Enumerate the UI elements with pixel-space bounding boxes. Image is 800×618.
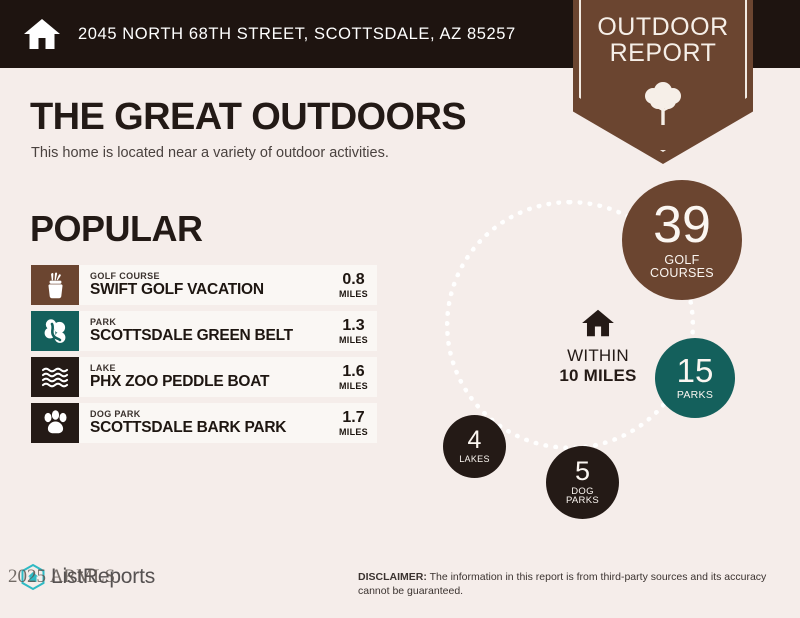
page-subtitle: This home is located near a variety of o… — [31, 145, 389, 161]
list-item-body: DOG PARK SCOTTSDALE BARK PARK 1.7 MILES — [79, 403, 377, 443]
list-item-name: SCOTTSDALE BARK PARK — [90, 420, 286, 436]
stat-label: GOLF COURSES — [650, 254, 714, 280]
tree-icon — [573, 78, 753, 131]
distance-value: 1.7 — [339, 410, 368, 426]
golf-bag-icon — [31, 265, 79, 305]
outdoor-report-page: 2045 NORTH 68TH STREET, SCOTTSDALE, AZ 8… — [0, 0, 800, 618]
list-item-labels: GOLF COURSE SWIFT GOLF VACATION — [90, 272, 264, 299]
popular-heading: POPULAR — [30, 208, 203, 250]
list-item-distance: 0.8 MILES — [333, 272, 368, 299]
list-item-category: LAKE — [90, 364, 269, 373]
outdoor-report-badge: OUTDOOR REPORT — [573, 0, 753, 164]
distance-unit: MILES — [339, 290, 368, 299]
disclaimer-label: DISCLAIMER: — [358, 571, 427, 583]
list-item-labels: DOG PARK SCOTTSDALE BARK PARK — [90, 410, 286, 437]
popular-list: GOLF COURSE SWIFT GOLF VACATION 0.8 MILE… — [31, 265, 377, 449]
list-item[interactable]: PARK SCOTTSDALE GREEN BELT 1.3 MILES — [31, 311, 377, 351]
list-item-labels: PARK SCOTTSDALE GREEN BELT — [90, 318, 293, 345]
home-icon — [518, 308, 678, 343]
diagram-center-line1: WITHIN — [518, 346, 678, 366]
stat-label: LAKES — [459, 455, 490, 464]
list-item-distance: 1.6 MILES — [333, 364, 368, 391]
list-item[interactable]: DOG PARK SCOTTSDALE BARK PARK 1.7 MILES — [31, 403, 377, 443]
list-item-category: DOG PARK — [90, 410, 286, 419]
stat-bubble-parks[interactable]: 15 PARKS — [655, 338, 735, 418]
list-item-distance: 1.3 MILES — [333, 318, 368, 345]
list-item-category: GOLF COURSE — [90, 272, 264, 281]
list-item[interactable]: LAKE PHX ZOO PEDDLE BOAT 1.6 MILES — [31, 357, 377, 397]
stat-bubble-lakes[interactable]: 4 LAKES — [443, 415, 506, 478]
list-item-category: PARK — [90, 318, 293, 327]
list-item-name: SCOTTSDALE GREEN BELT — [90, 328, 293, 344]
list-item-labels: LAKE PHX ZOO PEDDLE BOAT — [90, 364, 269, 391]
badge-title-line1: OUTDOOR — [597, 13, 728, 41]
paw-print-icon — [31, 403, 79, 443]
diagram-center-line2: 10 MILES — [518, 366, 678, 386]
park-tree-icon — [31, 311, 79, 351]
distance-unit: MILES — [339, 428, 368, 437]
stat-bubble-dog-parks[interactable]: 5 DOG PARKS — [546, 446, 619, 519]
distance-value: 0.8 — [339, 272, 368, 288]
stat-count: 4 — [468, 429, 482, 453]
property-address: 2045 NORTH 68TH STREET, SCOTTSDALE, AZ 8… — [78, 25, 516, 44]
badge-title: OUTDOOR REPORT — [573, 14, 753, 67]
list-item-body: LAKE PHX ZOO PEDDLE BOAT 1.6 MILES — [79, 357, 377, 397]
stat-label: DOG PARKS — [566, 487, 599, 506]
distance-unit: MILES — [339, 336, 368, 345]
list-item-name: SWIFT GOLF VACATION — [90, 282, 264, 298]
stat-label-line2: COURSES — [650, 266, 714, 280]
distance-unit: MILES — [339, 382, 368, 391]
list-item-body: PARK SCOTTSDALE GREEN BELT 1.3 MILES — [79, 311, 377, 351]
stat-label-line2: PARKS — [566, 495, 599, 506]
within-10-miles-diagram: WITHIN 10 MILES 39 GOLF COURSES 15 PARKS… — [400, 175, 800, 535]
stat-count: 15 — [677, 355, 714, 386]
list-item[interactable]: GOLF COURSE SWIFT GOLF VACATION 0.8 MILE… — [31, 265, 377, 305]
badge-title-line2: REPORT — [610, 39, 717, 67]
water-waves-icon — [31, 357, 79, 397]
stat-label: PARKS — [677, 390, 713, 401]
disclaimer: DISCLAIMER: The information in this repo… — [358, 570, 776, 599]
stat-bubble-golf-courses[interactable]: 39 GOLF COURSES — [622, 180, 742, 300]
page-title: THE GREAT OUTDOORS — [30, 96, 466, 139]
distance-value: 1.6 — [339, 364, 368, 380]
stat-count: 5 — [575, 459, 590, 485]
stat-count: 39 — [653, 201, 711, 250]
list-item-distance: 1.7 MILES — [333, 410, 368, 437]
list-item-body: GOLF COURSE SWIFT GOLF VACATION 0.8 MILE… — [79, 265, 377, 305]
home-icon — [22, 14, 62, 54]
mls-watermark: 2025 ARMLS — [8, 566, 115, 588]
diagram-center: WITHIN 10 MILES — [518, 308, 678, 386]
list-item-name: PHX ZOO PEDDLE BOAT — [90, 374, 269, 390]
distance-value: 1.3 — [339, 318, 368, 334]
